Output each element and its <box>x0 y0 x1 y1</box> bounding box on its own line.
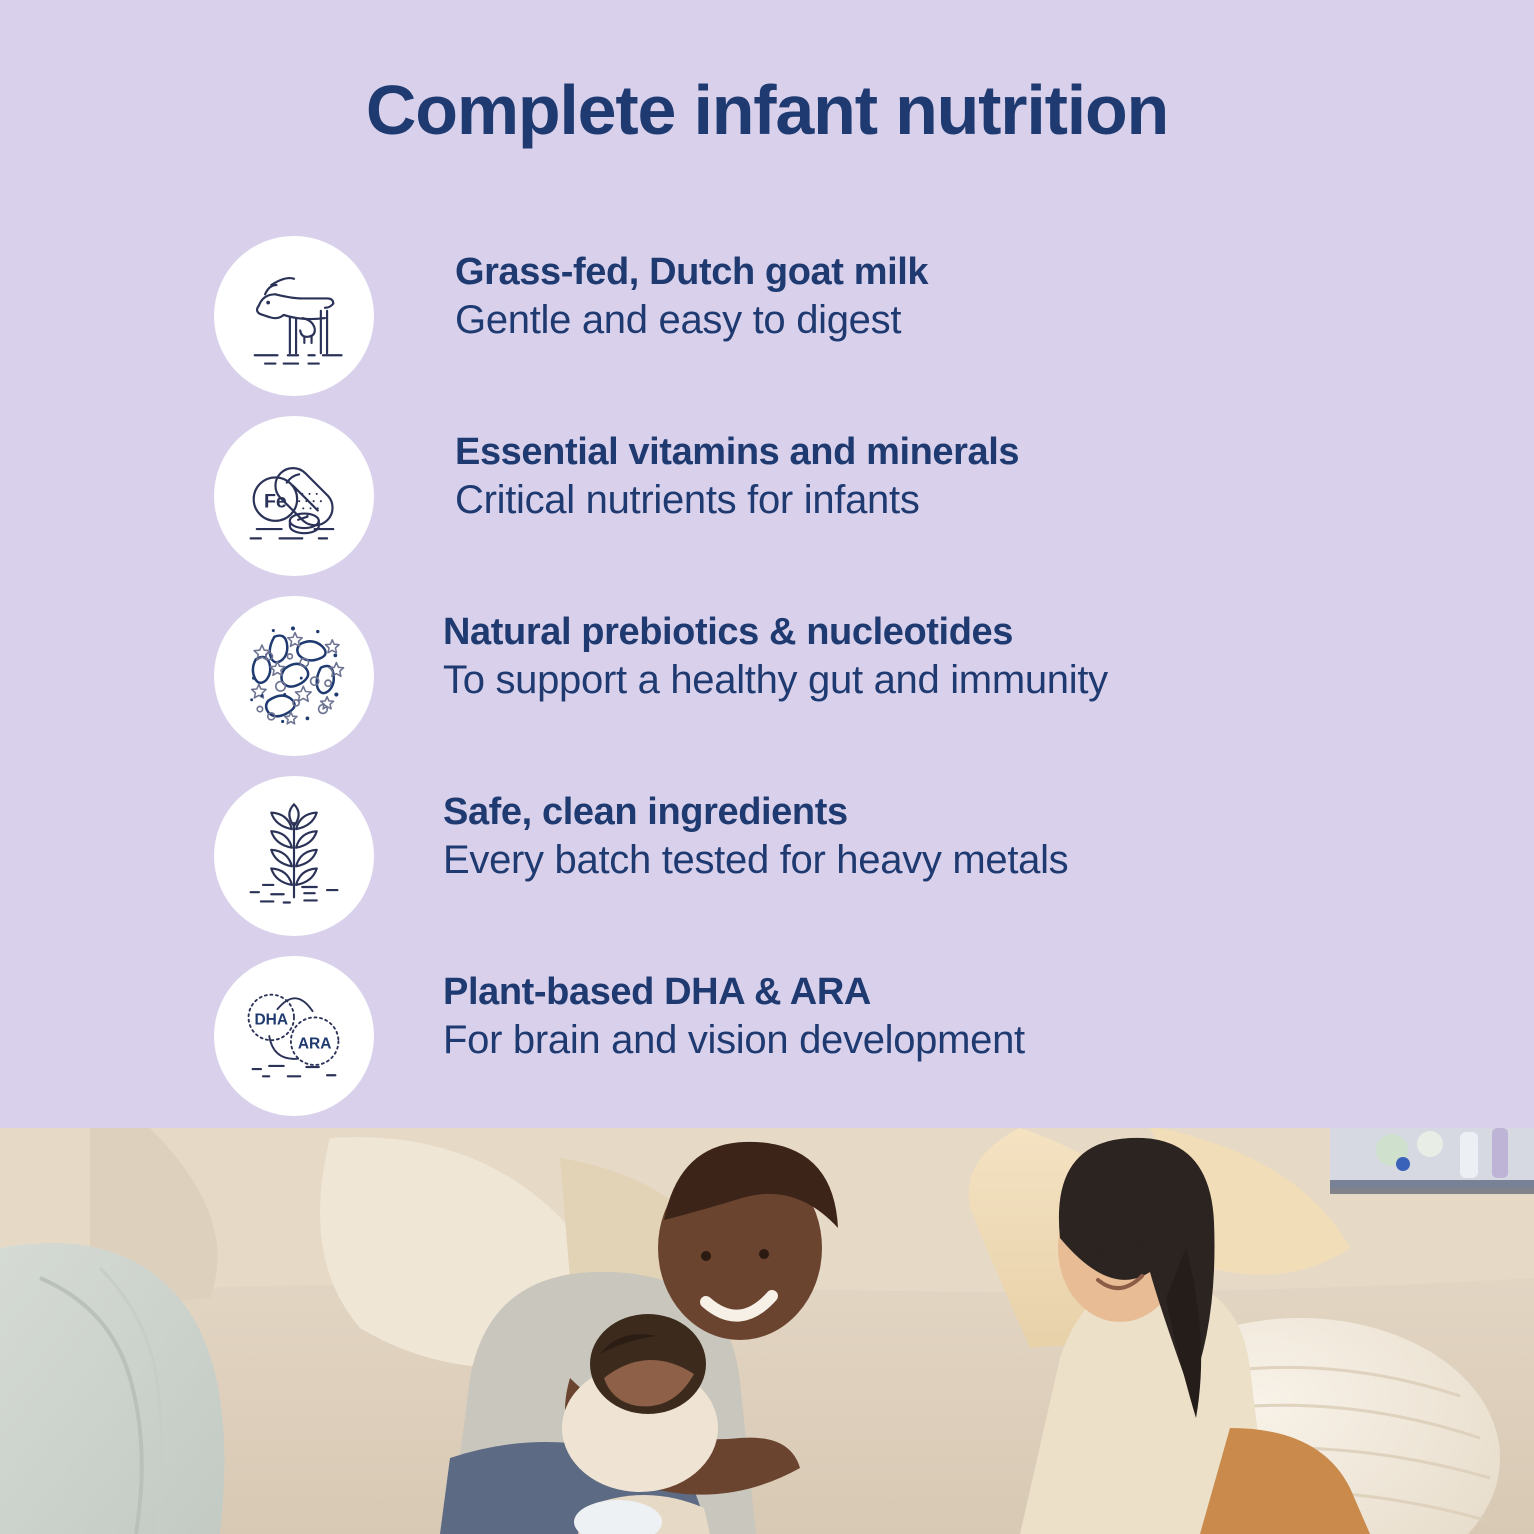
benefit-row: Natural prebiotics & nucleotides To supp… <box>0 588 1534 768</box>
benefit-title: Grass-fed, Dutch goat milk <box>455 250 1515 295</box>
benefit-text: Natural prebiotics & nucleotides To supp… <box>443 610 1503 704</box>
benefit-row: DHA ARA Plant-based DHA & ARA For brain … <box>0 948 1534 1128</box>
benefit-text: Safe, clean ingredients Every batch test… <box>443 790 1503 884</box>
benefit-subtitle: Gentle and easy to digest <box>455 297 1515 344</box>
benefit-text: Grass-fed, Dutch goat milk Gentle and ea… <box>455 250 1515 344</box>
benefit-title: Essential vitamins and minerals <box>455 430 1515 475</box>
iron-symbol-label: Fe <box>264 490 287 512</box>
benefit-row: Grass-fed, Dutch goat milk Gentle and ea… <box>0 228 1534 408</box>
benefit-row: Fe Essential vitamins and minerals Criti… <box>0 408 1534 588</box>
page-title: Complete infant nutrition <box>0 74 1534 148</box>
benefit-text: Essential vitamins and minerals Critical… <box>455 430 1515 524</box>
ara-label: ARA <box>298 1035 332 1052</box>
wheat-stalk-icon <box>214 776 374 936</box>
benefit-title: Plant-based DHA & ARA <box>443 970 1503 1015</box>
dha-ara-molecule-icon: DHA ARA <box>214 956 374 1116</box>
benefit-text: Plant-based DHA & ARA For brain and visi… <box>443 970 1503 1064</box>
family-lifestyle-photo <box>0 1128 1534 1534</box>
benefit-list: Grass-fed, Dutch goat milk Gentle and ea… <box>0 228 1534 1128</box>
benefit-subtitle: To support a healthy gut and immunity <box>443 657 1503 704</box>
probiotic-bacteria-icon <box>214 596 374 756</box>
benefit-subtitle: For brain and vision development <box>443 1017 1503 1064</box>
benefit-subtitle: Every batch tested for heavy metals <box>443 837 1503 884</box>
infographic-canvas: Complete infant nutrition <box>0 0 1534 1534</box>
benefit-title: Safe, clean ingredients <box>443 790 1503 835</box>
goat-icon <box>214 236 374 396</box>
benefit-title: Natural prebiotics & nucleotides <box>443 610 1503 655</box>
dha-label: DHA <box>254 1012 288 1029</box>
vitamin-capsule-fe-icon: Fe <box>214 416 374 576</box>
benefit-row: Safe, clean ingredients Every batch test… <box>0 768 1534 948</box>
benefit-subtitle: Critical nutrients for infants <box>455 477 1515 524</box>
